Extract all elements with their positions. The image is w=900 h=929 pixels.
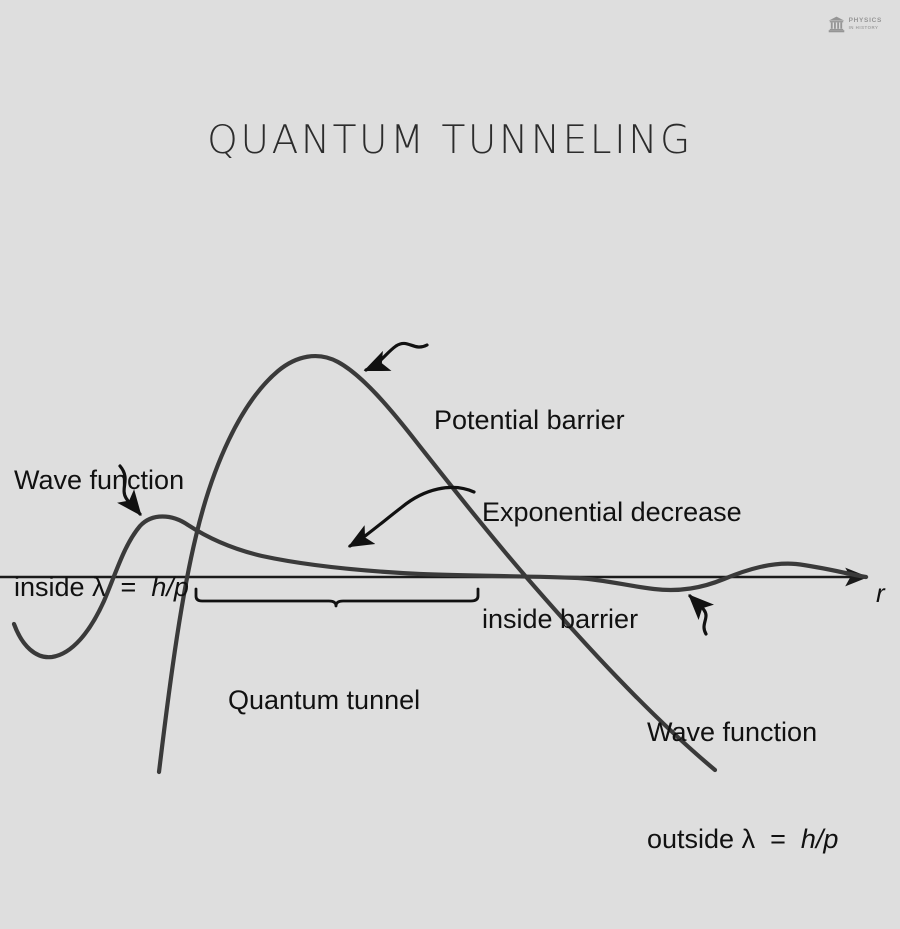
- annotation-quantum-tunnel-text: Quantum tunnel: [228, 683, 420, 719]
- leader-potential-barrier: [366, 343, 427, 370]
- annotation-wave-inside-prefix: inside: [14, 572, 92, 602]
- annotation-wave-inside-line1: Wave function: [14, 463, 189, 499]
- annotation-wave-outside-formula: h/p: [801, 824, 839, 854]
- annotation-wave-outside-prefix: outside: [647, 824, 742, 854]
- annotation-wave-outside-line2: outside λ = h/p: [647, 822, 838, 858]
- annotation-wave-function-inside: Wave function inside λ = h/p: [14, 392, 189, 677]
- annotation-wave-inside-formula: h/p: [151, 572, 189, 602]
- annotation-exponential-line2: inside barrier: [482, 602, 742, 638]
- figure-canvas: PHYSICS IN HISTORY QUANTUM TUNNELING: [0, 0, 900, 900]
- annotation-wave-outside-lambda: λ =: [742, 824, 801, 854]
- quantum-tunnel-brace: [196, 589, 478, 606]
- annotation-wave-inside-lambda: λ =: [92, 572, 151, 602]
- axis-label-r: r: [876, 578, 885, 609]
- annotation-wave-function-outside: Wave function outside λ = h/p: [647, 644, 838, 929]
- annotation-quantum-tunnel: Quantum tunnel: [228, 612, 420, 790]
- annotation-wave-outside-line1: Wave function: [647, 715, 838, 751]
- annotation-exponential-line1: Exponential decrease: [482, 495, 742, 531]
- annotation-wave-inside-line2: inside λ = h/p: [14, 570, 189, 606]
